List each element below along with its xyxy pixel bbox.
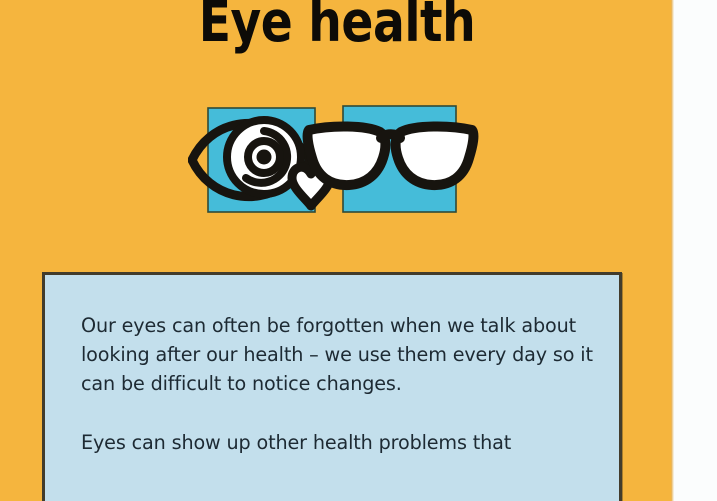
icon-cluster <box>188 100 488 220</box>
body-text-card: Our eyes can often be forgotten when we … <box>42 272 622 501</box>
eyeglasses-icon <box>308 106 474 212</box>
page-title: Eye health <box>27 0 647 53</box>
body-paragraph: Our eyes can often be forgotten when we … <box>81 311 603 399</box>
body-text: Our eyes can often be forgotten when we … <box>81 311 603 457</box>
body-paragraph: Eyes can show up other health problems t… <box>81 428 603 457</box>
page-white-margin <box>674 0 717 501</box>
slide-canvas: Eye health <box>0 0 717 501</box>
